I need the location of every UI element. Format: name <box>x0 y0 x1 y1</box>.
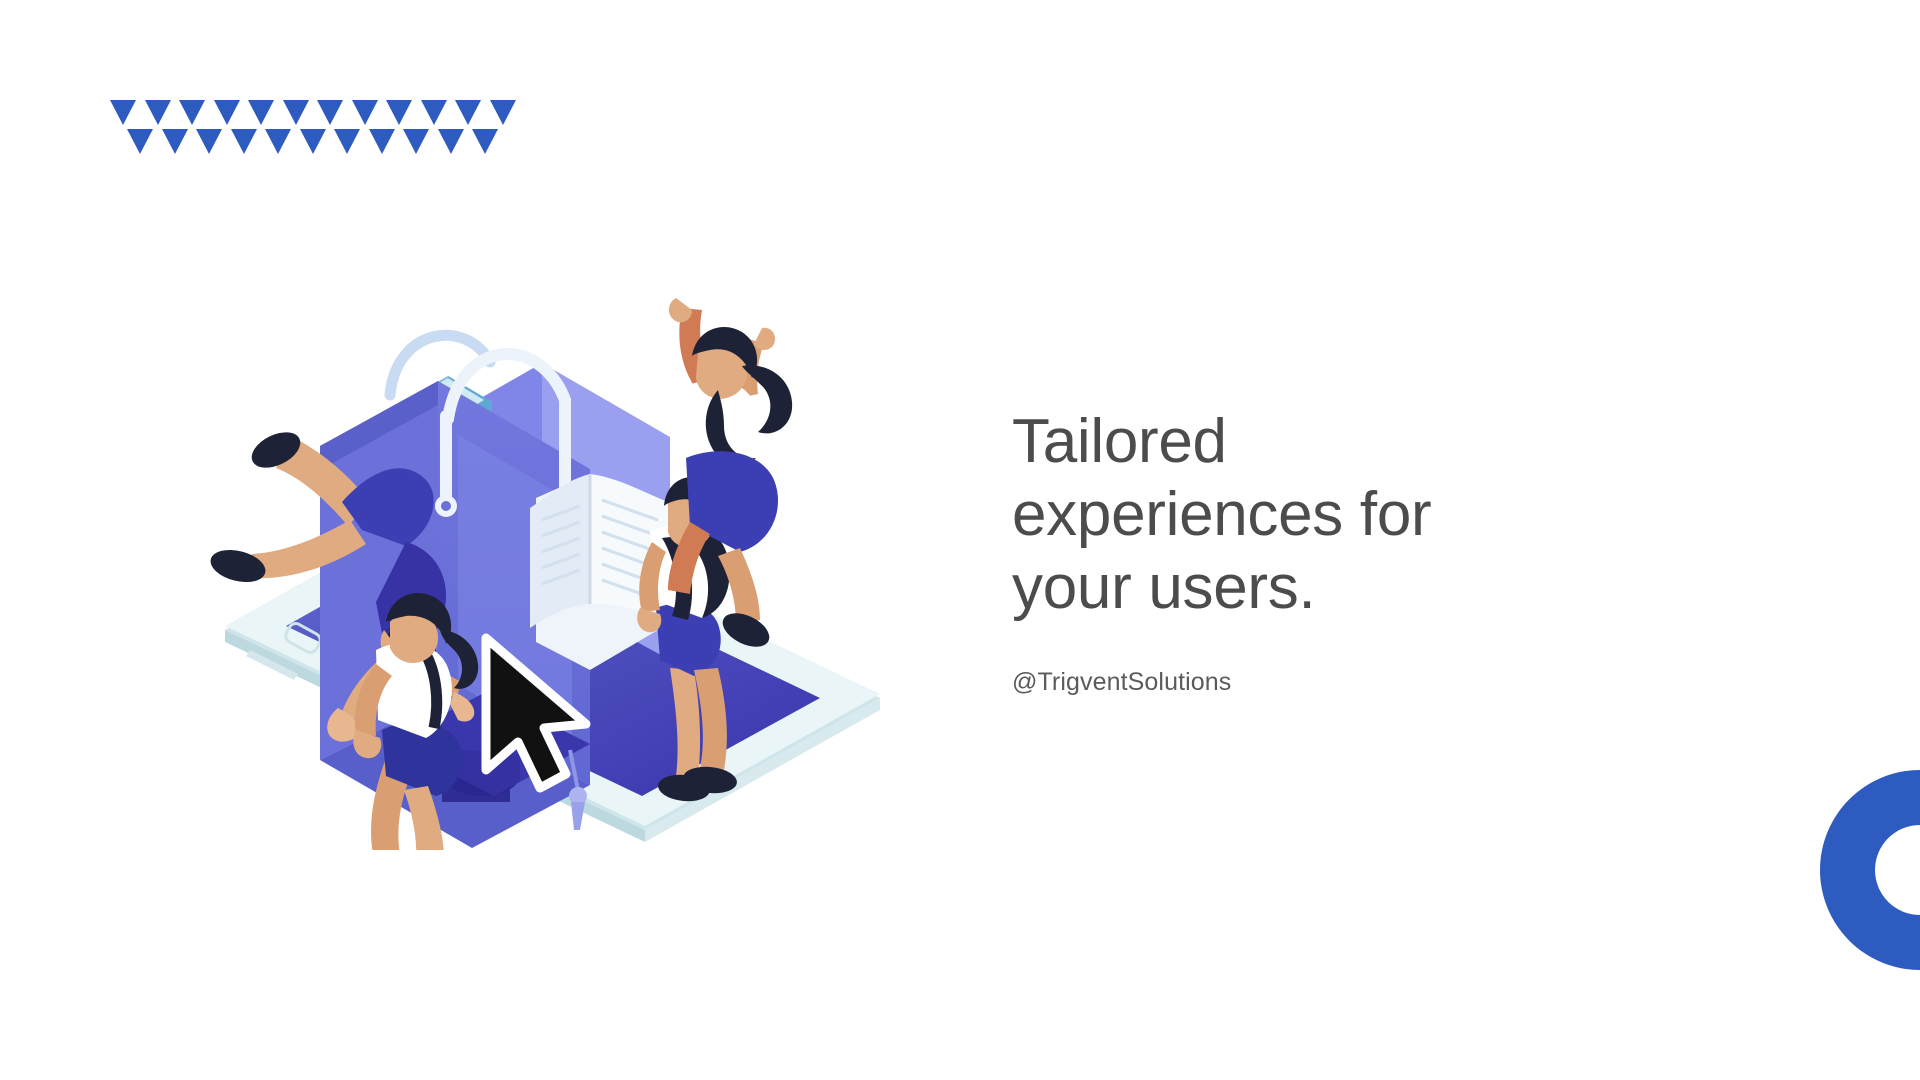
triangle-icon <box>214 100 240 125</box>
triangle-icon <box>421 100 447 125</box>
triangle-icon <box>179 100 205 125</box>
triangle-icon <box>145 100 171 125</box>
triangle-icon <box>265 129 291 154</box>
text-block: Tailored experiences for your users. @Tr… <box>1012 405 1632 697</box>
triangle-icon <box>386 100 412 125</box>
triangle-icon <box>127 129 153 154</box>
triangle-icon <box>196 129 222 154</box>
triangle-icon <box>455 100 481 125</box>
triangle-icon <box>283 100 309 125</box>
triangle-icon <box>438 129 464 154</box>
triangle-icon <box>248 100 274 125</box>
triangle-icon <box>369 129 395 154</box>
triangle-icon <box>317 100 343 125</box>
half-circle-arc <box>1800 770 1920 970</box>
triangle-icon <box>490 100 516 125</box>
triangle-icon <box>403 129 429 154</box>
triangle-icon <box>300 129 326 154</box>
isometric-tablet-shopping-scene <box>190 230 910 850</box>
triangle-row-2 <box>127 129 498 154</box>
page-title: Tailored experiences for your users. <box>1012 405 1632 624</box>
slide-canvas: Tailored experiences for your users. @Tr… <box>0 0 1920 1080</box>
triangle-icon <box>352 100 378 125</box>
triangle-icon <box>472 129 498 154</box>
triangle-row-1 <box>110 100 516 125</box>
triangle-icon <box>110 100 136 125</box>
triangle-icon <box>334 129 360 154</box>
social-handle: @TrigventSolutions <box>1012 668 1632 697</box>
triangle-pattern <box>110 100 490 170</box>
triangle-icon <box>231 129 257 154</box>
triangle-icon <box>162 129 188 154</box>
